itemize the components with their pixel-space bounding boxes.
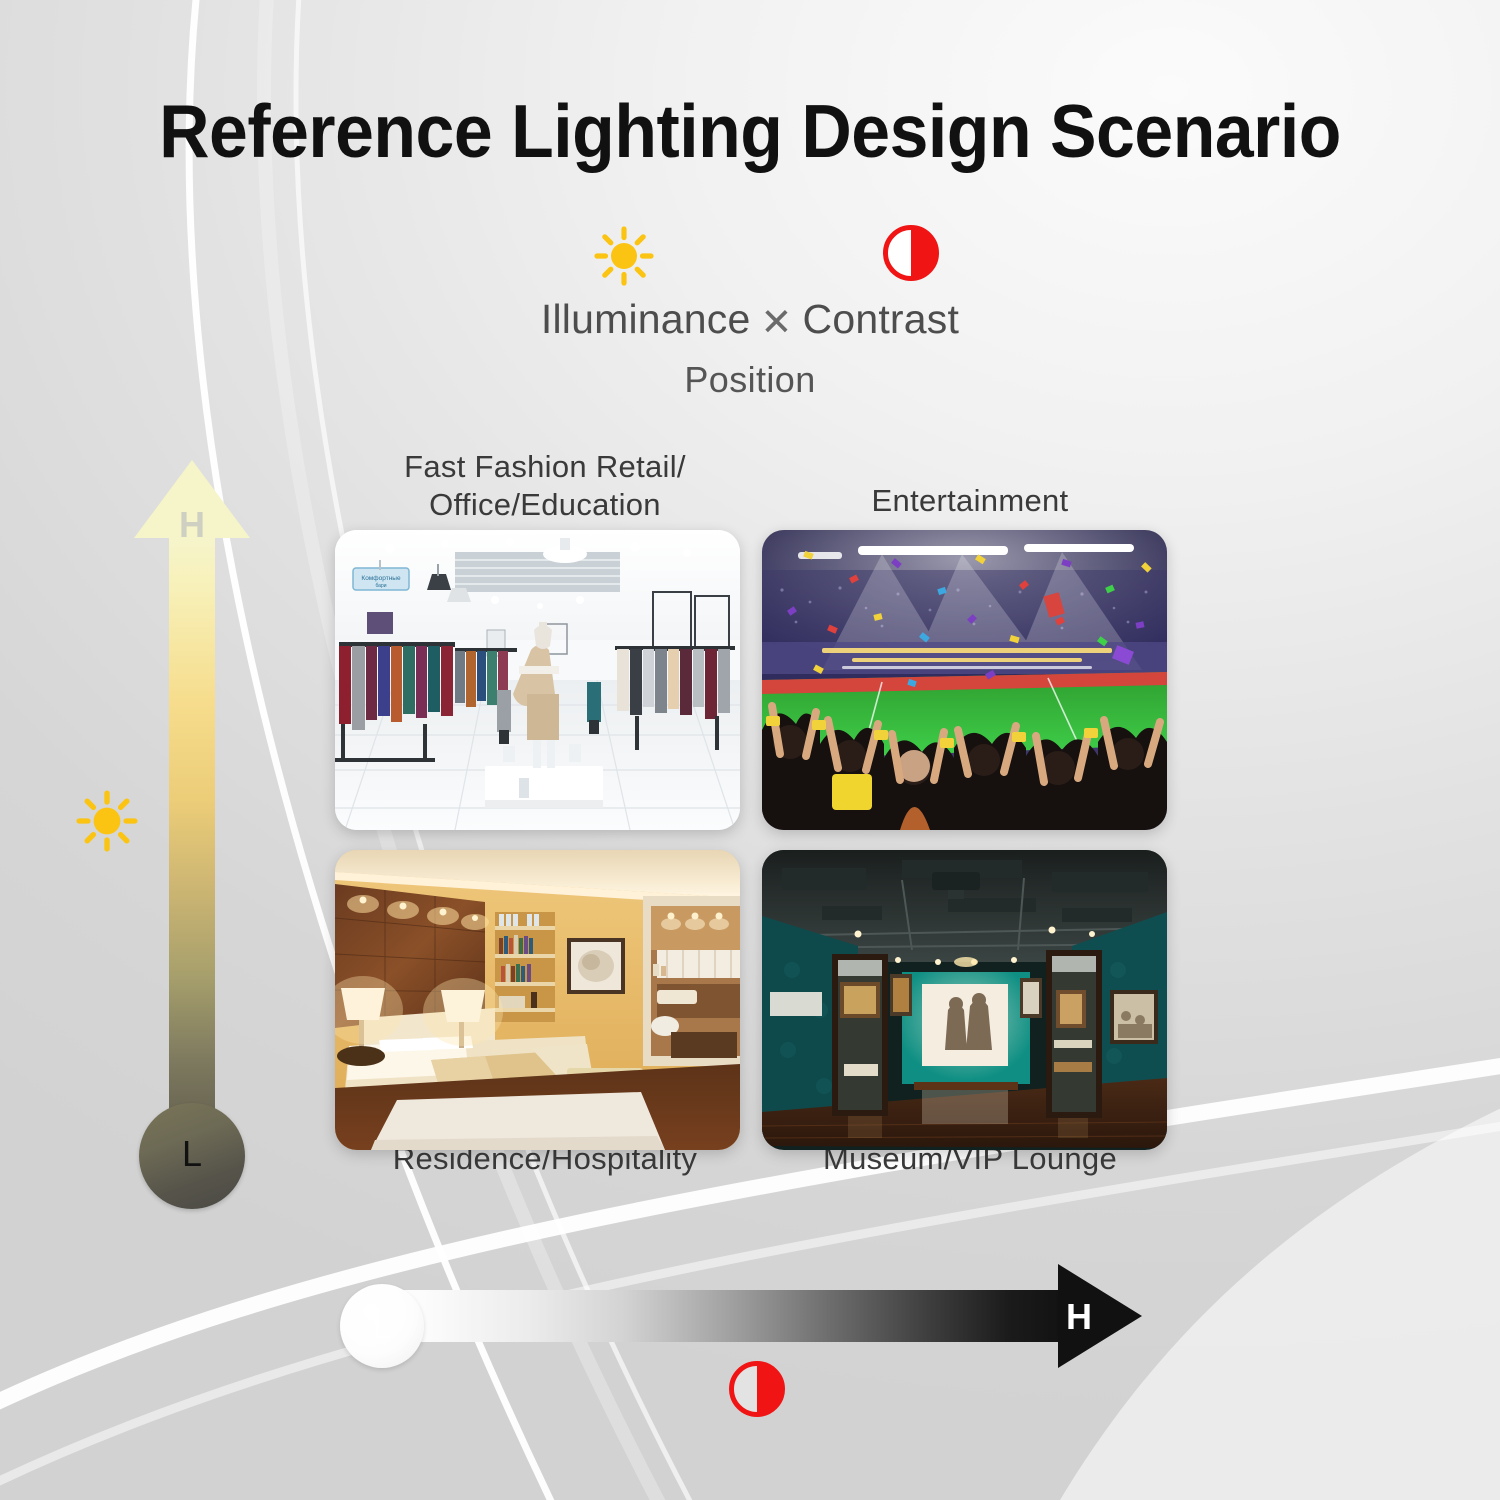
illuminance-axis: H L: [112, 455, 272, 1215]
poster-root: Reference Lighting Design Scenario: [0, 0, 1500, 1500]
quadrant-caption-top-right: Entertainment: [765, 482, 1175, 520]
illuminance-low-marker: L: [139, 1103, 245, 1209]
contrast-low-label: L: [340, 1308, 424, 1347]
legend-position-label: Position: [0, 359, 1500, 401]
contrast-low-marker: L: [340, 1284, 424, 1368]
sun-icon: [74, 788, 140, 859]
contrast-axis: H L: [340, 1258, 1150, 1376]
retail-store-photo: Комфортные бари: [335, 530, 740, 830]
legend-illuminance-label: Illuminance: [541, 296, 751, 342]
illuminance-axis-shaft: [169, 527, 215, 1147]
quadrant-caption-top-left: Fast Fashion Retail/ Office/Education: [330, 448, 760, 524]
contrast-icon: [726, 1358, 788, 1425]
contrast-icon: [880, 222, 942, 289]
legend-contrast-label: Contrast: [803, 296, 960, 342]
stadium-crowd-photo: [762, 530, 1167, 830]
illuminance-high-label: H: [112, 504, 272, 546]
svg-text:Комфортные: Комфортные: [361, 575, 401, 582]
legend-block: Illuminance✕Contrast Position: [0, 222, 1500, 401]
scenario-grid: Fast Fashion Retail/ Office/Education En…: [330, 440, 1175, 1215]
svg-text:бари: бари: [375, 583, 386, 589]
page-title: Reference Lighting Design Scenario: [53, 88, 1448, 174]
illuminance-low-label: L: [139, 1133, 245, 1175]
multiply-icon: ✕: [760, 300, 792, 345]
hotel-bedroom-photo: [335, 850, 740, 1150]
legend-icon-row: [0, 222, 1500, 292]
contrast-high-label: H: [1066, 1296, 1092, 1338]
museum-gallery-photo: [762, 850, 1167, 1150]
sun-icon: [592, 224, 656, 293]
contrast-axis-shaft: [376, 1290, 1064, 1342]
legend-formula: Illuminance✕Contrast: [0, 296, 1500, 343]
